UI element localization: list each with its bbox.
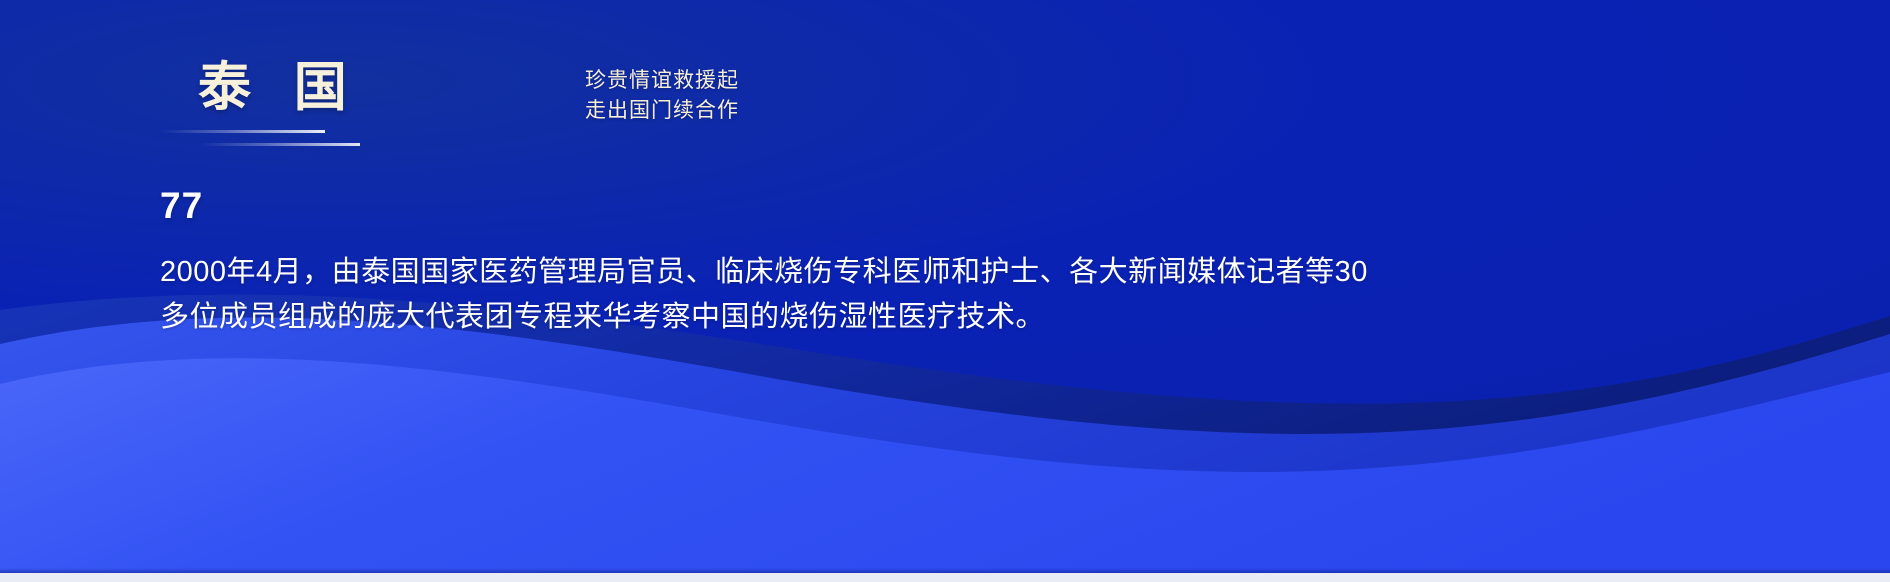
subtitle-block: 珍贵情谊救援起 走出国门续合作 <box>492 66 832 127</box>
title-underline-secondary <box>200 143 360 146</box>
subtitle-line-2: 走出国门续合作 <box>492 96 832 126</box>
slide-canvas: 泰 国 珍贵情谊救援起 走出国门续合作 77 2000年4月，由泰国国家医药管理… <box>0 0 1890 582</box>
content-layer: 泰 国 珍贵情谊救援起 走出国门续合作 77 2000年4月，由泰国国家医药管理… <box>0 0 1890 582</box>
body-paragraph: 2000年4月，由泰国国家医药管理局官员、临床烧伤专科医师和护士、各大新闻媒体记… <box>160 250 1370 340</box>
item-number: 77 <box>160 185 203 227</box>
country-title: 泰 国 <box>198 58 361 119</box>
subtitle-line-1: 珍贵情谊救援起 <box>492 66 832 96</box>
title-underline-primary <box>162 130 325 133</box>
